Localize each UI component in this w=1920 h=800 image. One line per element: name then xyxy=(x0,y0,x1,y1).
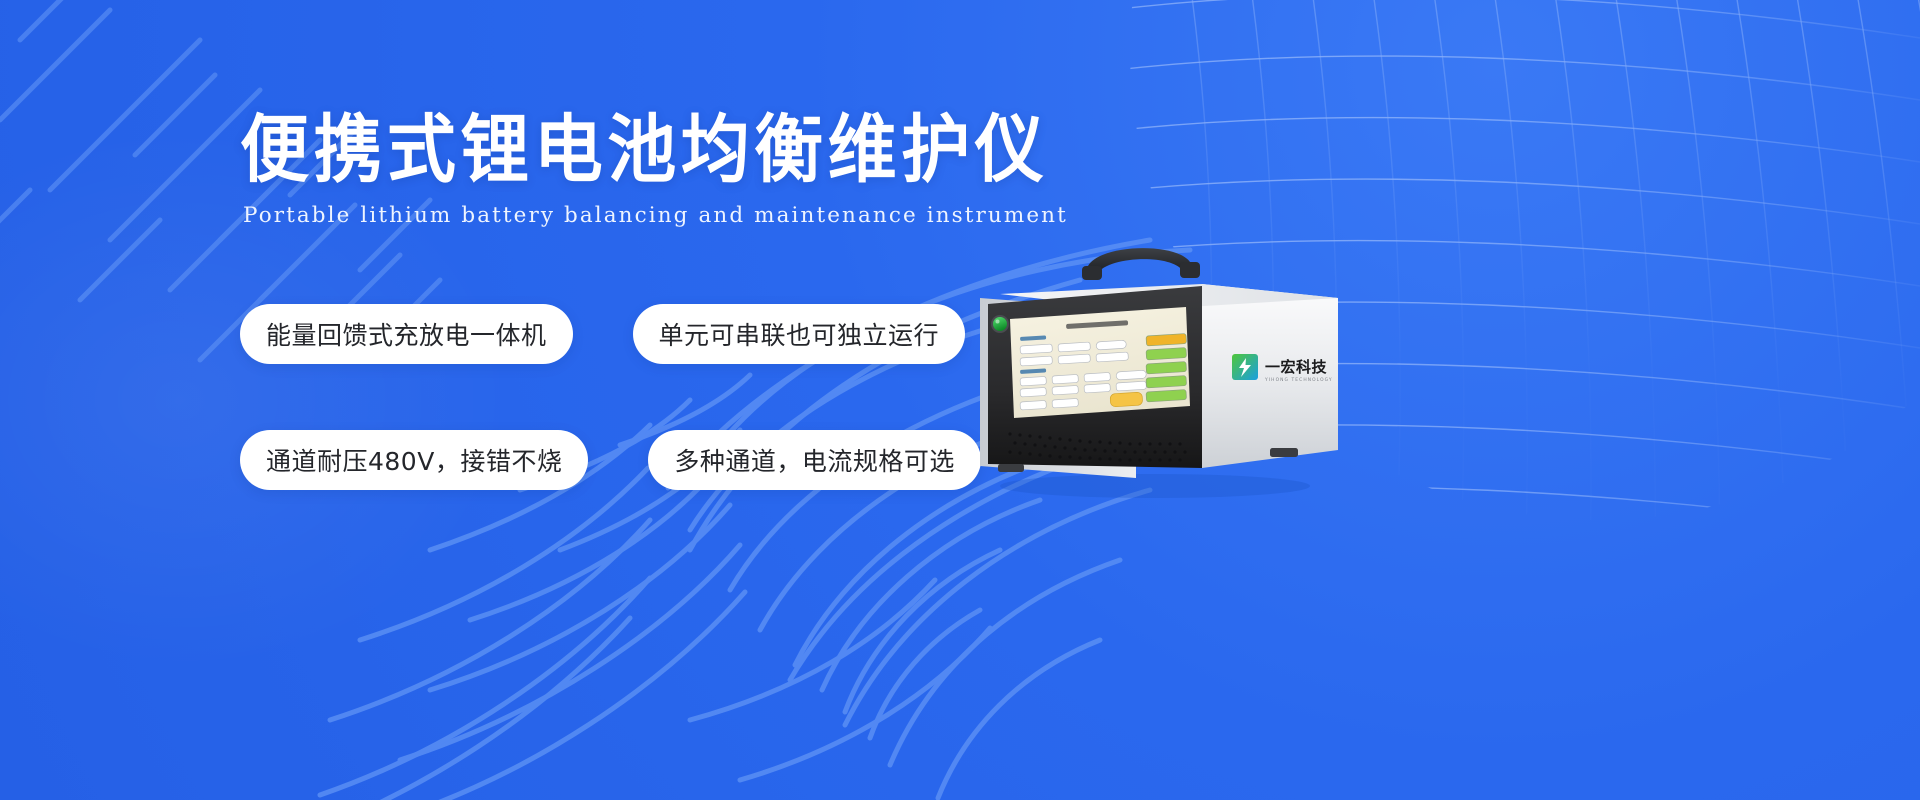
banner-content: 便携式锂电池均衡维护仪 Portable lithium battery bal… xyxy=(0,0,1920,800)
page-subtitle: Portable lithium battery balancing and m… xyxy=(243,200,1068,232)
feature-pill-channel-current-options[interactable]: 多种通道，电流规格可选 xyxy=(648,430,981,490)
brand-logo: 一宏科技 YIHONG TECHNOLOGY xyxy=(1232,354,1333,383)
page-title: 便携式锂电池均衡维护仪 xyxy=(240,107,1058,193)
power-indicator-led-inner xyxy=(993,317,1007,331)
device-image: 一宏科技 YIHONG TECHNOLOGY xyxy=(940,236,1360,506)
device-handle xyxy=(1088,248,1190,274)
brand-logo-pinyin: YIHONG TECHNOLOGY xyxy=(1264,377,1333,383)
device-foot-right xyxy=(1270,448,1298,457)
feature-pill-series-or-standalone[interactable]: 单元可串联也可独立运行 xyxy=(633,304,966,364)
feature-pill-row-2: 通道耐压480V，接错不烧 多种通道，电流规格可选 xyxy=(240,430,940,490)
feature-pill-row-1: 能量回馈式充放电一体机 单元可串联也可独立运行 xyxy=(240,304,940,364)
device-foot-left xyxy=(998,464,1024,472)
feature-pill-group: 能量回馈式充放电一体机 单元可串联也可独立运行 通道耐压480V，接错不烧 多种… xyxy=(240,304,940,556)
device-side-panel xyxy=(1202,284,1338,468)
feature-pill-energy-feedback[interactable]: 能量回馈式充放电一体机 xyxy=(240,304,573,364)
handle-mount-left xyxy=(1082,266,1102,280)
feature-pill-channel-voltage[interactable]: 通道耐压480V，接错不烧 xyxy=(240,430,588,490)
brand-logo-text: 一宏科技 xyxy=(1265,358,1328,376)
device-shadow xyxy=(1000,474,1310,498)
handle-mount-right xyxy=(1180,262,1200,278)
promo-banner: 便携式锂电池均衡维护仪 Portable lithium battery bal… xyxy=(0,0,1920,800)
